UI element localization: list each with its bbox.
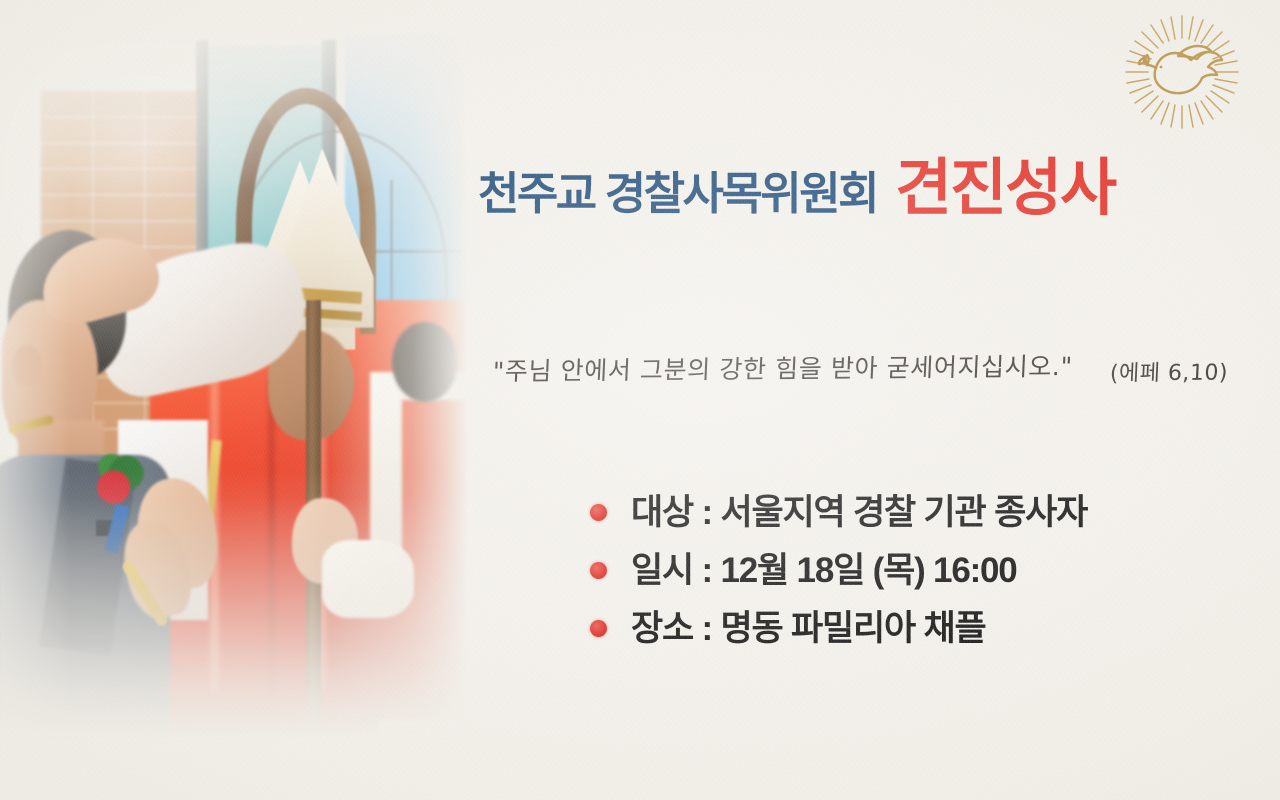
bullet-icon [590,562,607,579]
bullet-icon [590,620,607,637]
scripture-verse: "주님 안에서 그분의 강한 힘을 받아 굳세어지십시오." (에페 6,10) [492,352,1280,388]
list-item: 일시 : 12월 18일 (목) 16:00 [590,541,1250,599]
organization-title: 천주교 경찰사목위원회 [478,171,877,216]
photo-scene [0,0,470,800]
detail-datetime: 일시 : 12월 18일 (목) 16:00 [631,553,1017,588]
event-details-list: 대상 : 서울지역 경찰 기관 종사자 일시 : 12월 18일 (목) 16:… [590,483,1250,657]
page-title: 천주교 경찰사목위원회 견진성사 [478,158,1268,220]
list-item: 장소 : 명동 파밀리아 채플 [590,599,1250,657]
verse-text: "주님 안에서 그분의 강한 힘을 받아 굳세어지십시오." [492,347,1073,388]
poster-root: 천주교 경찰사목위원회 견진성사 "주님 안에서 그분의 강한 힘을 받아 굳세… [0,0,1280,800]
event-title: 견진성사 [895,158,1115,220]
poster-content: 천주교 경찰사목위원회 견진성사 "주님 안에서 그분의 강한 힘을 받아 굳세… [470,0,1280,800]
verse-reference: (에페 6,10) [1109,354,1229,387]
photo-light-wash [0,0,470,800]
list-item: 대상 : 서울지역 경찰 기관 종사자 [590,483,1250,541]
confirmation-ceremony-photo [0,0,470,800]
bullet-icon [590,504,607,521]
detail-audience: 대상 : 서울지역 경찰 기관 종사자 [631,495,1087,530]
detail-venue: 장소 : 명동 파밀리아 채플 [631,611,986,646]
